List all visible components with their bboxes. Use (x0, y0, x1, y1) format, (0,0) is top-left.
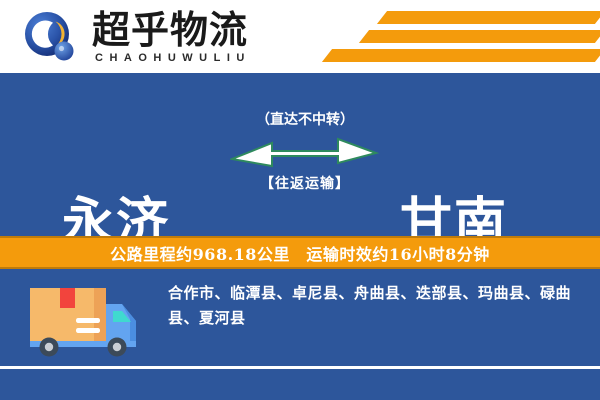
coverage-section: 合作市、临潭县、卓尼县、舟曲县、迭部县、玛曲县、碌曲县、夏河县 (0, 269, 600, 368)
brand-header: 超乎物流 CHAOHUWULIU (0, 0, 600, 73)
coverage-areas-text: 合作市、临潭县、卓尼县、舟曲县、迭部县、玛曲县、碌曲县、夏河县 (168, 281, 580, 331)
distance-duration-bar: 公路里程约968.18公里 运输时效约16小时8分钟 (0, 236, 600, 269)
route-section: 永济 （直达不中转） 【往返运输】 甘南 (0, 73, 600, 236)
distance-duration-text: 公路里程约968.18公里 运输时效约16小时8分钟 (110, 241, 490, 265)
stripe-1 (377, 11, 600, 24)
decorative-stripes (270, 8, 600, 70)
delivery-truck-icon (18, 282, 148, 358)
brand-name-cn: 超乎物流 (92, 8, 248, 52)
route-middle: （直达不中转） 【往返运输】 (230, 111, 380, 211)
logistics-route-banner: 超乎物流 CHAOHUWULIU 永济 （直达不中转） 【往返运输】 甘南 (0, 0, 600, 400)
circular-q-logo-icon (22, 10, 78, 66)
stripe-3 (322, 49, 600, 62)
double-headed-arrow-icon (230, 135, 380, 169)
brand-name-en: CHAOHUWULIU (95, 52, 251, 65)
round-trip-note: 【往返运输】 (230, 175, 380, 193)
stripe-2 (359, 30, 600, 43)
footer-strip (0, 369, 600, 400)
direct-route-note: （直达不中转） (230, 111, 380, 129)
